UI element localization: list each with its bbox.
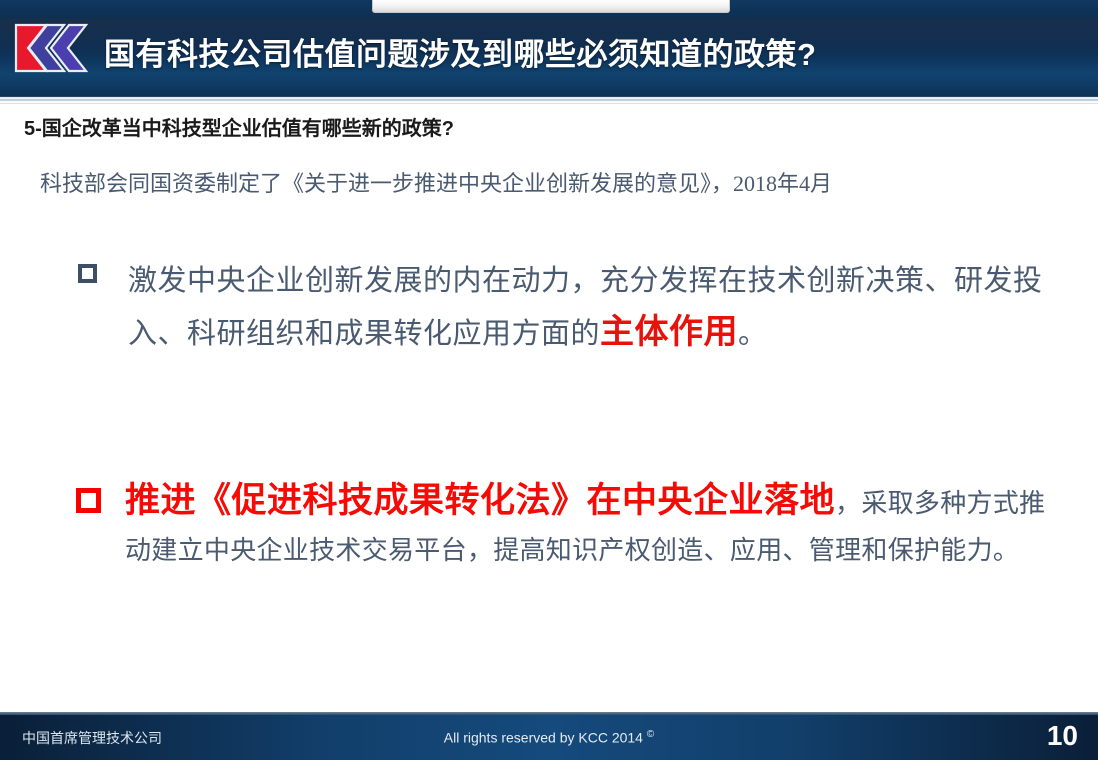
bullet-1-text-part-b: 。	[738, 318, 768, 350]
page-number: 10	[1047, 720, 1078, 752]
bullet-2-lead: 推进《促进科技成果转化法》在中央企业落地	[125, 481, 835, 520]
slide-canvas: 国有科技公司估值问题涉及到哪些必须知道的政策? 5-国企改革当中科技型企业估值有…	[0, 0, 1098, 760]
policy-reference-note: 科技部会同国资委制定了《关于进一步推进中央企业创新发展的意见》，2018年4月	[40, 166, 832, 198]
footer-copyright-text: All rights reserved by KCC 2014	[444, 730, 643, 746]
footer-top-rule	[0, 712, 1098, 715]
hollow-square-blue-icon	[78, 264, 97, 283]
copyright-mark-icon: ©	[647, 729, 654, 740]
slide-body: 5-国企改革当中科技型企业估值有哪些新的政策? 科技部会同国资委制定了《关于进一…	[0, 104, 1098, 712]
header-divider-rule	[0, 96, 1098, 104]
slide-footer: 中国首席管理技术公司 All rights reserved by KCC 20…	[0, 712, 1098, 760]
bullet-item-1: 激发中央企业创新发展的内在动力，充分发挥在技术创新决策、研发投入、科研组织和成果…	[78, 256, 1048, 360]
bullet-1-emphasis: 主体作用	[600, 313, 738, 351]
bullet-item-2-text: 推进《促进科技成果转化法》在中央企业落地，采取多种方式推动建立中央企业技术交易平…	[125, 479, 1056, 576]
bullet-1-text-part-a: 激发中央企业创新发展的内在动力，充分发挥在技术创新决策、研发投入、科研组织和成果…	[128, 265, 1043, 350]
bullet-item-2: 推进《促进科技成果转化法》在中央企业落地，采取多种方式推动建立中央企业技术交易平…	[76, 479, 1056, 576]
footer-copyright: All rights reserved by KCC 2014 ©	[0, 729, 1098, 746]
kcc-chevron-logo-icon	[14, 23, 92, 73]
page-title: 国有科技公司估值问题涉及到哪些必须知道的政策?	[104, 29, 816, 74]
bullet-item-1-text: 激发中央企业创新发展的内在动力，充分发挥在技术创新决策、研发投入、科研组织和成果…	[128, 256, 1048, 360]
section-heading: 5-国企改革当中科技型企业估值有哪些新的政策?	[24, 112, 454, 141]
hollow-square-red-icon	[76, 488, 101, 513]
top-tab-bar[interactable]	[372, 0, 730, 13]
